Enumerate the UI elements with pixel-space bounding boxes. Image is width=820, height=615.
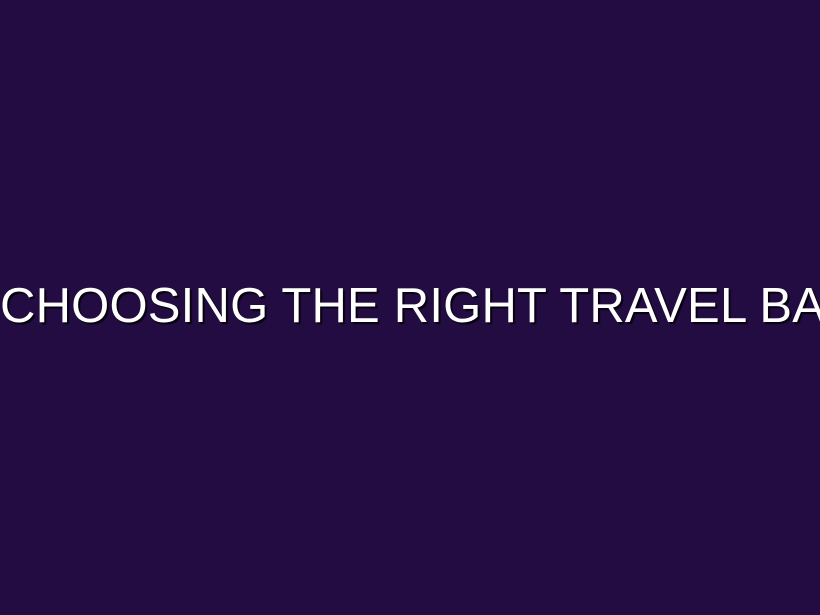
slide-title-block: CHOOSING THE RIGHT TRAVEL BAG (0, 279, 820, 334)
slide-title: CHOOSING THE RIGHT TRAVEL BAG (0, 279, 820, 334)
presentation-slide: CHOOSING THE RIGHT TRAVEL BAG (0, 0, 820, 615)
